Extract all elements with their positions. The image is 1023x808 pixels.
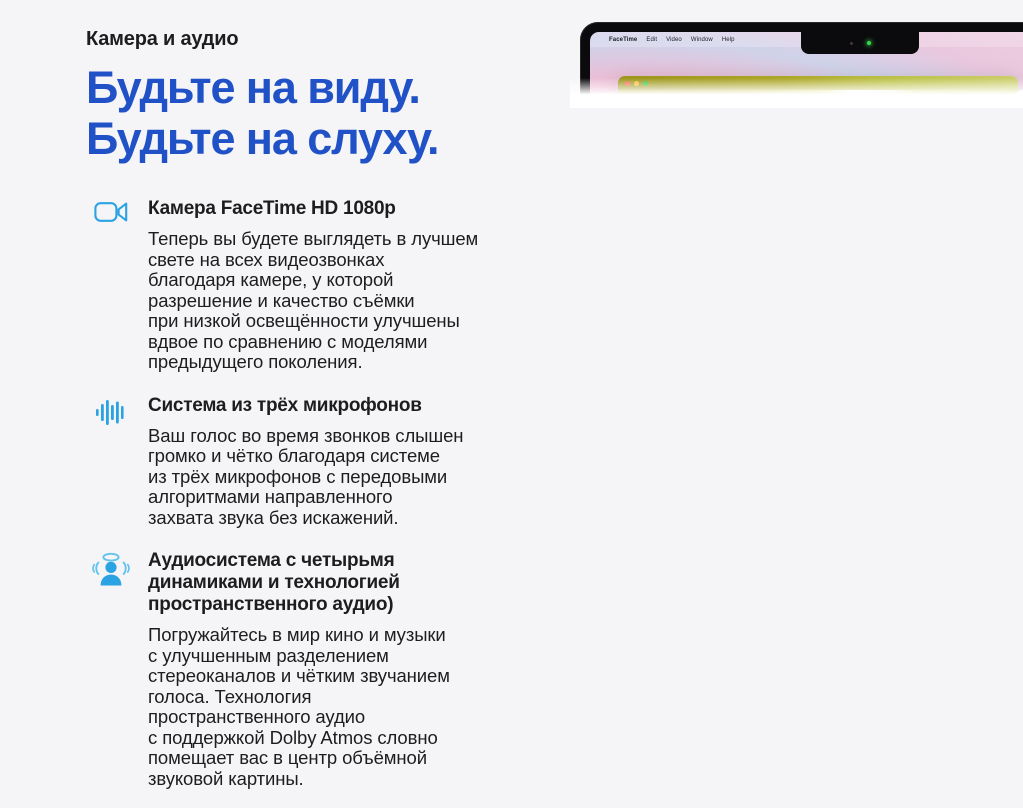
camera-indicator-light-icon [867, 41, 871, 45]
headline-line-2: Будьте на слуху. [86, 113, 570, 164]
camera-lens-icon [850, 42, 853, 45]
menubar-item-window[interactable]: Window [691, 37, 713, 43]
feature-title: Система из трёх микрофонов [148, 395, 570, 417]
feature-item-spatial-audio: Аудиосистема с четырьмя динамиками и тех… [86, 550, 570, 789]
menubar-item-help[interactable]: Help [722, 37, 735, 43]
feature-body: Погружайтесь в мир кино и музыки с улучш… [148, 625, 570, 789]
page-title: Будьте на виду. Будьте на слуху. [86, 62, 570, 164]
menubar-item-video[interactable]: Video [666, 37, 682, 43]
feature-item-microphones: Система из трёх микрофонов Ваш голос во … [86, 395, 570, 529]
feature-list: Камера FaceTime HD 1080p Теперь вы будет… [86, 198, 570, 789]
menubar-item-facetime[interactable]: FaceTime [609, 37, 637, 43]
hero-macbook-image: FaceTime Edit Video Window Help [570, 0, 1023, 108]
section-eyebrow: Камера и аудио [86, 26, 570, 52]
feature-item-camera: Камера FaceTime HD 1080p Теперь вы будет… [86, 198, 570, 373]
audio-waveform-icon [86, 397, 136, 439]
display-notch [801, 32, 919, 54]
menubar-item-edit[interactable]: Edit [646, 37, 657, 43]
feature-title: Аудиосистема с четырьмя динамиками и тех… [148, 550, 570, 616]
spatial-audio-person-icon [86, 552, 136, 594]
headline-line-1: Будьте на виду. [86, 62, 570, 113]
content-column: Камера и аудио Будьте на виду. Будьте на… [0, 0, 570, 789]
feature-body: Теперь вы будете выглядеть в лучшем свет… [148, 229, 570, 373]
feature-body: Ваш голос во время звонков слышен громко… [148, 426, 570, 529]
image-bottom-fade [570, 78, 1023, 108]
feature-title: Камера FaceTime HD 1080p [148, 198, 570, 220]
video-camera-icon [86, 200, 136, 242]
